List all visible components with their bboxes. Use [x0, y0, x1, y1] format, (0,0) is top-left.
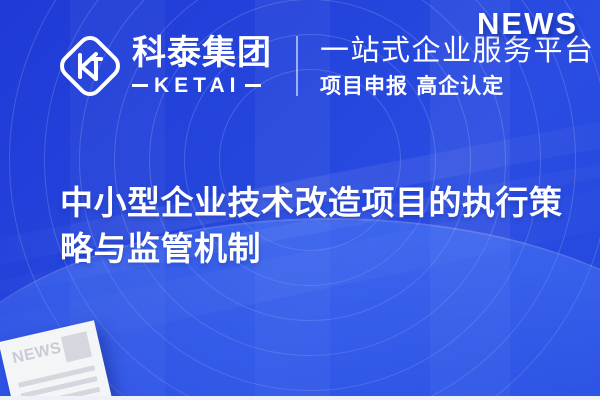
- newspaper-masthead: NEWS: [11, 340, 63, 367]
- tagline-sub: 项目申报 高企认定: [320, 74, 595, 98]
- news-banner: 科泰集团 KETAI 一站式企业服务平台 项目申报 高企认定 NEWS 中小型企…: [0, 0, 600, 400]
- brand-logo[interactable]: 科泰集团 KETAI: [58, 34, 272, 98]
- logo-dash-left-icon: [132, 84, 148, 87]
- logo-english-row: KETAI: [132, 75, 272, 96]
- vertical-divider-icon: [296, 36, 298, 96]
- banner-header: 科泰集团 KETAI 一站式企业服务平台 项目申报 高企认定: [58, 34, 595, 98]
- news-badge: NEWS: [477, 6, 578, 42]
- ketai-diamond-monogram-icon: [58, 34, 122, 98]
- page-title: 中小型企业技术改造项目的执行策略与监管机制: [60, 180, 572, 271]
- logo-dash-right-icon: [245, 84, 261, 87]
- logo-english-name: KETAI: [154, 75, 240, 96]
- image-placeholder-icon: [61, 331, 92, 362]
- logo-chinese-name: 科泰集团: [132, 36, 272, 70]
- bottom-strip: [0, 396, 600, 400]
- logo-wordmark: 科泰集团 KETAI: [132, 36, 272, 96]
- brand-tagline: 一站式企业服务平台 项目申报 高企认定: [320, 34, 595, 97]
